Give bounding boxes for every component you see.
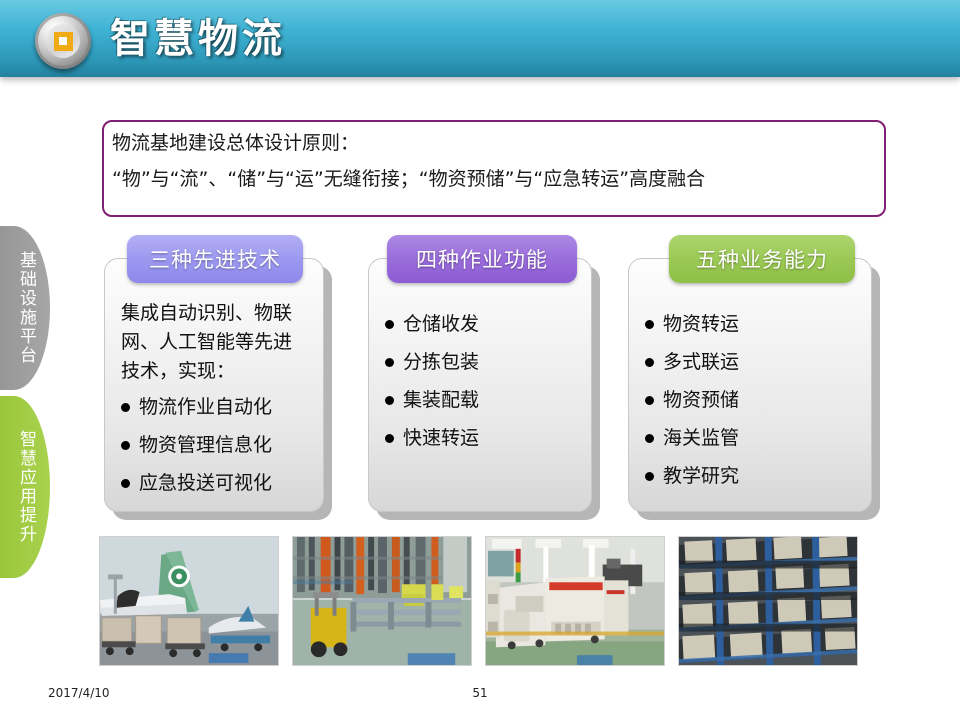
list-item: 多式联运 (645, 343, 857, 381)
callout-line-2: “物”与“流”、“储”与“运”无缝衔接；“物资预储”与“应急转运”高度融合 (104, 158, 884, 194)
list-item: 物流作业自动化 (121, 388, 309, 426)
card-content: 集成自动识别、物联网、人工智能等先进技术，实现： 物流作业自动化 物资管理信息化… (105, 259, 323, 502)
card-content: 物资转运 多式联运 物资预储 海关监管 教学研究 (629, 259, 871, 495)
bullet-icon (645, 396, 654, 405)
rounded-square-badge-icon (35, 13, 91, 69)
list-item: 物资转运 (645, 305, 857, 343)
card-body: 五种业务能力 物资转运 多式联运 物资预储 海关监管 教学研究 (628, 258, 872, 512)
list-item-label: 海关监管 (663, 419, 739, 457)
card-list: 物流作业自动化 物资管理信息化 应急投送可视化 (121, 388, 309, 502)
slide-header: 智慧物流 (0, 0, 960, 77)
card-title: 五种业务能力 (696, 244, 828, 274)
badge-white-square-icon (59, 37, 67, 45)
card-list: 物资转运 多式联运 物资预储 海关监管 教学研究 (645, 305, 857, 495)
bullet-icon (385, 434, 394, 443)
list-item-label: 物资管理信息化 (139, 426, 272, 464)
list-item-label: 物流作业自动化 (139, 388, 272, 426)
card-three-advanced-technologies[interactable]: 三种先进技术 集成自动识别、物联网、人工智能等先进技术，实现： 物流作业自动化 … (104, 258, 324, 512)
list-item-label: 物资转运 (663, 305, 739, 343)
list-item: 快速转运 (385, 419, 577, 457)
list-item: 仓储收发 (385, 305, 577, 343)
list-item-label: 应急投送可视化 (139, 464, 272, 502)
card-paragraph: 集成自动识别、物联网、人工智能等先进技术，实现： (121, 299, 309, 386)
sidebar-item-infrastructure-platform[interactable]: 基础设施平台 (0, 226, 50, 390)
design-principle-callout: 物流基地建设总体设计原则： “物”与“流”、“储”与“运”无缝衔接；“物资预储”… (102, 120, 886, 217)
card-title: 三种先进技术 (149, 244, 281, 274)
automated-warehouse-photo (292, 536, 472, 666)
bullet-icon (121, 479, 130, 488)
warehouse-racking-photo (678, 536, 858, 666)
bullet-icon (121, 403, 130, 412)
callout-line-1: 物流基地建设总体设计原则： (104, 122, 884, 158)
badge-orange-square-icon (54, 32, 73, 51)
card-header-pill: 三种先进技术 (127, 235, 303, 283)
card-body: 四种作业功能 仓储收发 分拣包装 集装配载 快速转运 (368, 258, 592, 512)
packaging-machine-photo (485, 536, 665, 666)
footer-page-number: 51 (0, 686, 960, 700)
bullet-icon (645, 472, 654, 481)
list-item: 分拣包装 (385, 343, 577, 381)
bullet-icon (385, 320, 394, 329)
card-content: 仓储收发 分拣包装 集装配载 快速转运 (369, 259, 591, 457)
card-five-business-capabilities[interactable]: 五种业务能力 物资转运 多式联运 物资预储 海关监管 教学研究 (628, 258, 872, 512)
bullet-icon (385, 358, 394, 367)
bullet-icon (385, 396, 394, 405)
list-item: 海关监管 (645, 419, 857, 457)
card-four-operation-functions[interactable]: 四种作业功能 仓储收发 分拣包装 集装配载 快速转运 (368, 258, 592, 512)
sidebar-item-smart-application[interactable]: 智慧应用提升 (0, 396, 50, 578)
list-item-label: 快速转运 (403, 419, 479, 457)
sidebar-item-label: 基础设施平台 (14, 251, 39, 365)
card-title: 四种作业功能 (416, 244, 548, 274)
list-item-label: 分拣包装 (403, 343, 479, 381)
page-title: 智慧物流 (110, 8, 286, 70)
list-item-label: 多式联运 (663, 343, 739, 381)
badge-inner-disc (46, 24, 80, 58)
list-item: 集装配载 (385, 381, 577, 419)
bullet-icon (645, 434, 654, 443)
list-item: 应急投送可视化 (121, 464, 309, 502)
card-header-pill: 五种业务能力 (669, 235, 855, 283)
card-body: 三种先进技术 集成自动识别、物联网、人工智能等先进技术，实现： 物流作业自动化 … (104, 258, 324, 512)
list-item: 教学研究 (645, 457, 857, 495)
card-list: 仓储收发 分拣包装 集装配载 快速转运 (385, 305, 577, 457)
bullet-icon (121, 441, 130, 450)
list-item-label: 物资预储 (663, 381, 739, 419)
bullet-icon (645, 320, 654, 329)
list-item-label: 教学研究 (663, 457, 739, 495)
bullet-icon (645, 358, 654, 367)
list-item-label: 集装配载 (403, 381, 479, 419)
air-cargo-loading-photo (99, 536, 279, 666)
sidebar-item-label: 智慧应用提升 (14, 430, 39, 544)
list-item-label: 仓储收发 (403, 305, 479, 343)
list-item: 物资预储 (645, 381, 857, 419)
card-header-pill: 四种作业功能 (387, 235, 577, 283)
list-item: 物资管理信息化 (121, 426, 309, 464)
